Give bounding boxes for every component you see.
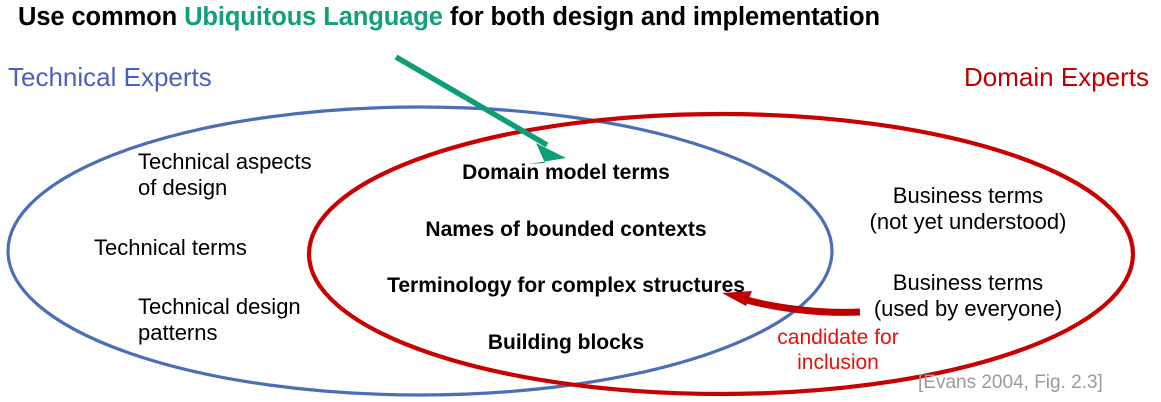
right-item-business-terms-used-by-everyone: Business terms(used by everyone) (874, 270, 1062, 322)
left-item-line1: Technical terms (94, 235, 247, 260)
right-ellipse-domain-experts (309, 114, 1133, 394)
right-item-line2: (not yet understood) (870, 209, 1067, 234)
left-item-technical-design-patterns: Technical designpatterns (138, 294, 301, 346)
left-item-line2: patterns (138, 320, 218, 345)
annotation-candidate-for-inclusion: candidate forinclusion (777, 326, 898, 376)
page-title: Use common Ubiquitous Language for both … (18, 2, 880, 32)
label-technical-experts: Technical Experts (8, 62, 212, 93)
left-item-line1: Technical aspects (138, 149, 312, 174)
shared-item-building-blocks: Building blocks (488, 331, 644, 356)
title-text-before: Use common (18, 3, 184, 31)
shared-item-terminology-for-complex-structures: Terminology for complex structures (387, 274, 745, 299)
annotation-line2: inclusion (797, 351, 879, 374)
shared-item-names-of-bounded-contexts: Names of bounded contexts (425, 218, 706, 243)
source-citation: [Evans 2004, Fig. 2.3] (918, 372, 1103, 394)
annotation-line1: candidate for (777, 326, 898, 349)
ubiquitous-language-venn-diagram: Use common Ubiquitous Language for both … (0, 0, 1161, 402)
left-item-technical-terms: Technical terms (94, 235, 247, 261)
shared-item-domain-model-terms: Domain model terms (462, 161, 670, 186)
green-pointer-arrow (396, 57, 566, 164)
label-domain-experts: Domain Experts (964, 62, 1149, 93)
left-item-line1: Technical design (138, 294, 301, 319)
right-item-line2: (used by everyone) (874, 296, 1062, 321)
left-item-line2: of design (138, 175, 227, 200)
left-item-technical-aspects: Technical aspectsof design (138, 149, 312, 201)
right-item-business-terms-not-understood: Business terms(not yet understood) (870, 183, 1067, 235)
title-text-after: for both design and implementation (443, 3, 880, 31)
right-item-line1: Business terms (893, 270, 1043, 295)
title-text-highlight: Ubiquitous Language (184, 3, 443, 31)
right-item-line1: Business terms (893, 183, 1043, 208)
